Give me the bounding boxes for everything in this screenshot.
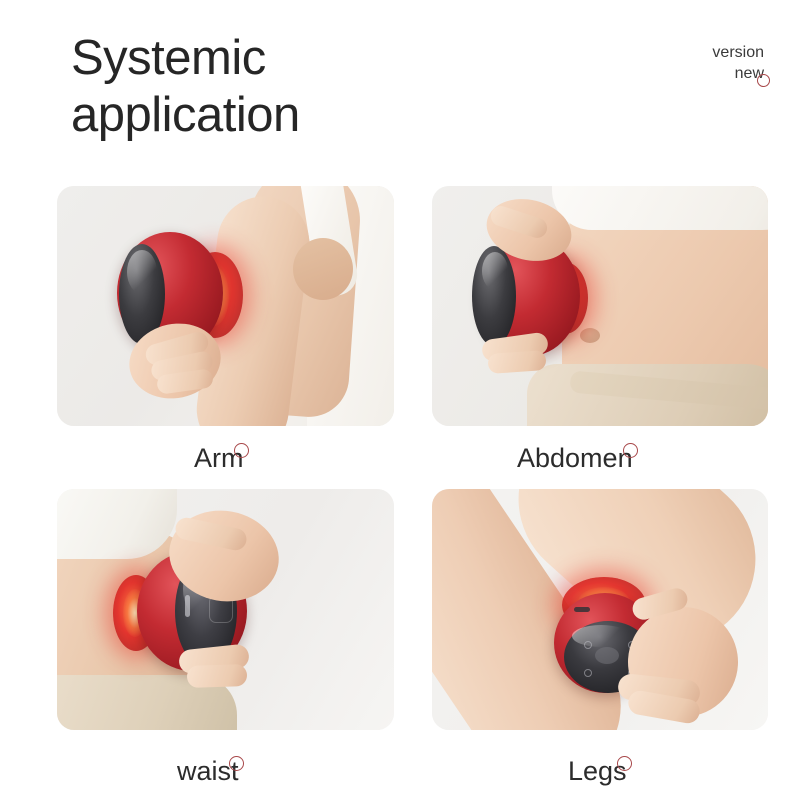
- device-gloss-highlight: [572, 625, 630, 647]
- caption-legs-inner: Legs: [568, 755, 627, 787]
- finger-shape: [187, 664, 248, 688]
- caption-abdomen-text: Abdomen: [517, 443, 633, 473]
- page-title: Systemic application: [71, 30, 591, 144]
- caption-arm-inner: Arm: [194, 442, 244, 474]
- panel-waist[interactable]: [57, 489, 394, 730]
- device-gloss-highlight: [482, 252, 508, 290]
- circle-marker-icon: [757, 74, 770, 87]
- circle-marker-icon: [617, 756, 632, 771]
- panel-arm[interactable]: [57, 186, 394, 426]
- caption-arm: Arm: [194, 442, 244, 474]
- device-gloss-highlight: [127, 250, 157, 294]
- arm-scene: [57, 186, 394, 426]
- finger-shape: [487, 350, 546, 374]
- device-indicator-slot: [574, 607, 590, 612]
- legs-scene: [432, 489, 768, 730]
- panel-abdomen[interactable]: [432, 186, 768, 426]
- panel-legs[interactable]: [432, 489, 768, 730]
- waist-scene: [57, 489, 394, 730]
- version-badge: version new: [712, 42, 764, 84]
- circle-marker-icon: [229, 756, 244, 771]
- crop-top-shape: [552, 186, 768, 230]
- caption-waist-inner: waist: [177, 755, 239, 787]
- abdomen-scene: [432, 186, 768, 426]
- armpit-shading: [293, 238, 353, 300]
- page-header: Systemic application version new: [0, 0, 800, 168]
- circle-marker-icon: [234, 443, 249, 458]
- caption-abdomen-inner: Abdomen: [517, 442, 633, 474]
- version-label: version: [712, 42, 764, 63]
- device-indicator-dot: [584, 669, 592, 677]
- navel-shading: [580, 328, 600, 343]
- caption-abdomen: Abdomen: [517, 442, 633, 474]
- caption-waist: waist: [177, 755, 239, 787]
- circle-marker-icon: [623, 443, 638, 458]
- caption-legs: Legs: [568, 755, 627, 787]
- device-power-button[interactable]: [595, 647, 619, 664]
- device-indicator-dot: [584, 641, 592, 649]
- version-value-row: new: [735, 63, 764, 84]
- device-indicator-slot: [185, 595, 190, 617]
